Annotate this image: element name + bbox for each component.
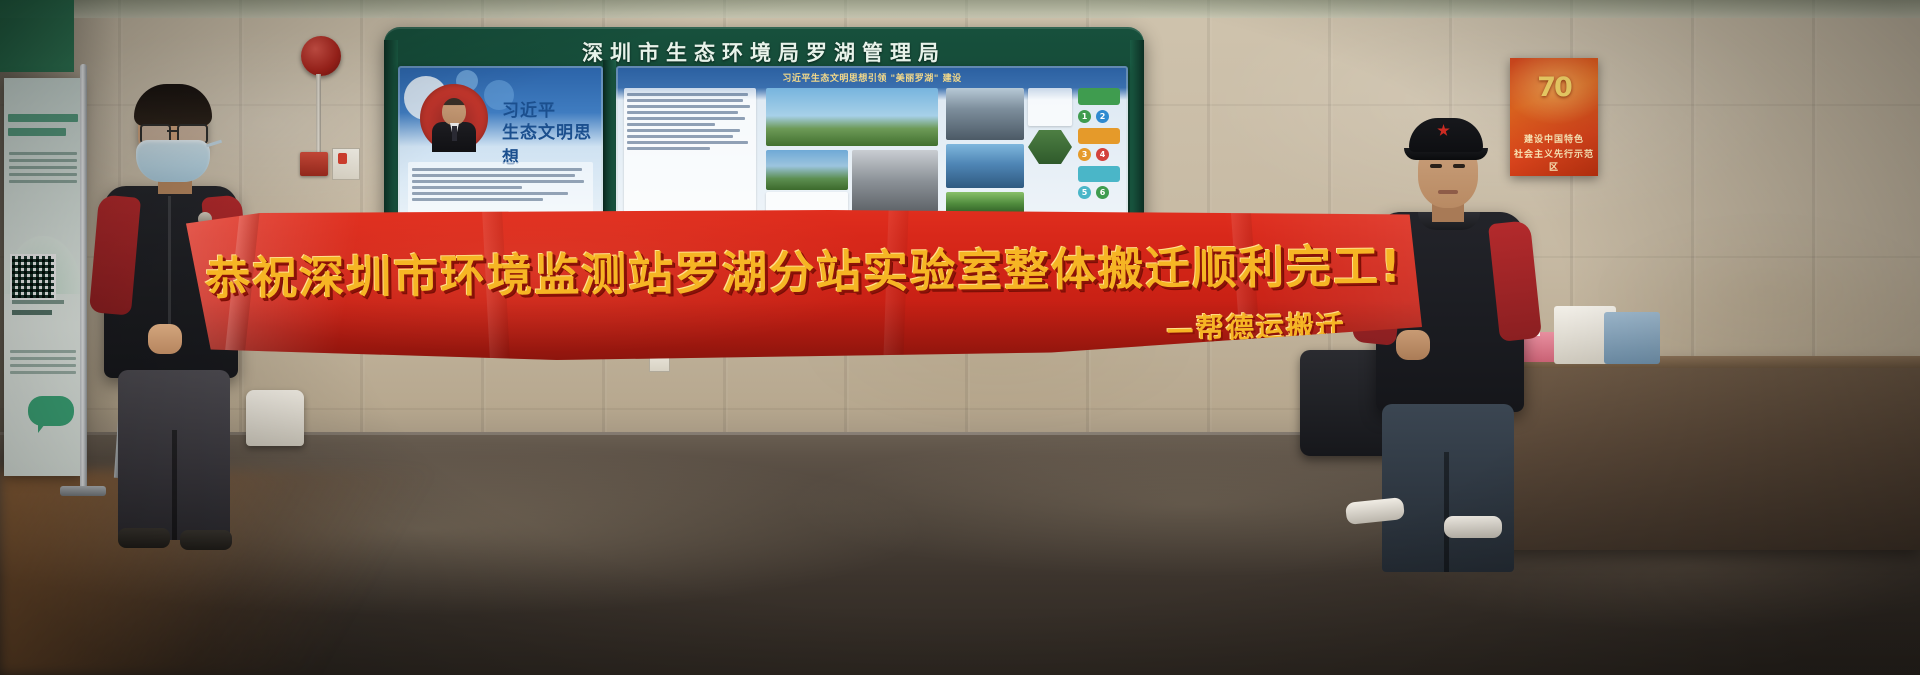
rollup-stand-pole bbox=[80, 64, 87, 494]
poster-70th-anniversary: 70 建设中国特色 社会主义先行示范区 bbox=[1510, 58, 1598, 176]
white-bag bbox=[246, 390, 304, 446]
board-frame-left bbox=[384, 40, 398, 232]
rollup-title-line2 bbox=[8, 128, 66, 136]
person-right-eye-right bbox=[1453, 164, 1465, 168]
rollup-speech-bubble-icon bbox=[28, 396, 74, 426]
banner-main-text: 恭祝深圳市环境监测站罗湖分站实验室整体搬迁顺利完工! bbox=[186, 230, 1422, 308]
board-frame-right bbox=[1130, 40, 1144, 232]
eyeglass-bridge bbox=[167, 130, 177, 132]
green-ceiling-corner bbox=[0, 0, 74, 72]
alarm-conduit-pipe bbox=[316, 74, 321, 156]
poster-photo-group bbox=[852, 150, 938, 212]
poster-hexagon-graphic bbox=[1028, 130, 1072, 164]
board-frame-middle bbox=[603, 60, 616, 226]
photo-scene: 深圳市生态环境局罗湖管理局 习近平 生态文明思想 习近平生态文明思想引领 "美丽… bbox=[0, 0, 1920, 675]
poster-number-4: 4 bbox=[1096, 148, 1109, 161]
fire-alarm-call-point bbox=[300, 152, 328, 176]
poster-photo-road bbox=[946, 88, 1024, 140]
poster-portrait-tie bbox=[452, 126, 457, 141]
blue-box bbox=[1604, 312, 1660, 364]
rollup-stand-base bbox=[60, 486, 106, 496]
department-sign-title: 深圳市生态环境局罗湖管理局 bbox=[384, 37, 1144, 67]
face-mask-icon bbox=[136, 140, 210, 182]
ceiling-trim bbox=[0, 0, 1920, 18]
poster-number-3: 3 bbox=[1078, 148, 1091, 161]
poster-number-2: 2 bbox=[1096, 110, 1109, 123]
person-left-shoe-right bbox=[180, 530, 232, 550]
poster-number-6: 6 bbox=[1096, 186, 1109, 199]
poster-right-body-text bbox=[624, 88, 756, 155]
poster-number-5: 5 bbox=[1078, 186, 1091, 199]
poster-portrait-head bbox=[442, 98, 466, 125]
poster-70-number: 70 bbox=[1510, 72, 1598, 103]
eyeglasses-icon bbox=[140, 124, 206, 140]
person-right-leg-split bbox=[1444, 452, 1449, 572]
person-right-shoe-right bbox=[1444, 516, 1502, 538]
person-right-mouth bbox=[1438, 190, 1458, 194]
rollup-banner bbox=[4, 78, 82, 476]
rollup-paragraph-2 bbox=[10, 346, 76, 378]
wooden-counter bbox=[1480, 360, 1920, 550]
poster-xi-jinping-thought: 习近平 生态文明思想 bbox=[398, 66, 603, 221]
congratulation-banner: 恭祝深圳市环境监测站罗湖分站实验室整体搬迁顺利完工! —帮德运搬迁 bbox=[186, 210, 1422, 360]
poster-chip-3 bbox=[1078, 166, 1120, 182]
rollup-title-line1 bbox=[8, 114, 78, 122]
poster-photo-city bbox=[766, 150, 848, 190]
poster-photo-green bbox=[946, 192, 1024, 214]
rollup-paragraph bbox=[9, 148, 77, 187]
poster-right-text-column bbox=[624, 88, 756, 214]
poster-number-1: 1 bbox=[1078, 110, 1091, 123]
fire-alarm-bell-icon bbox=[301, 36, 341, 76]
poster-chip-2 bbox=[1078, 128, 1120, 144]
pointing-hand-sign bbox=[332, 148, 360, 180]
qr-code-icon bbox=[10, 254, 56, 300]
poster-left-textbox bbox=[408, 162, 593, 214]
poster-beautiful-luohu: 习近平生态文明思想引领 "美丽罗湖" 建设 bbox=[616, 66, 1128, 221]
poster-70-line1: 建设中国特色 bbox=[1510, 132, 1598, 145]
person-right-hand bbox=[1396, 330, 1430, 360]
person-right-eye-left bbox=[1430, 164, 1442, 168]
poster-right-header: 习近平生态文明思想引领 "美丽罗湖" 建设 bbox=[622, 70, 1122, 84]
poster-photo-skyline bbox=[766, 88, 938, 146]
poster-photo-water bbox=[946, 144, 1024, 188]
person-left-hand bbox=[148, 324, 182, 354]
rollup-caption-2 bbox=[12, 310, 52, 315]
poster-left-title-line2: 生态文明思想 bbox=[502, 118, 603, 168]
rollup-caption-1 bbox=[12, 300, 64, 304]
person-left-leg-split bbox=[172, 430, 177, 540]
poster-chip-1 bbox=[1078, 88, 1120, 105]
poster-side-note-1 bbox=[1028, 88, 1072, 126]
person-left-shoe-left bbox=[118, 528, 170, 548]
pointing-hand-icon bbox=[338, 153, 347, 164]
poster-70-line2: 社会主义先行示范区 bbox=[1510, 147, 1598, 173]
